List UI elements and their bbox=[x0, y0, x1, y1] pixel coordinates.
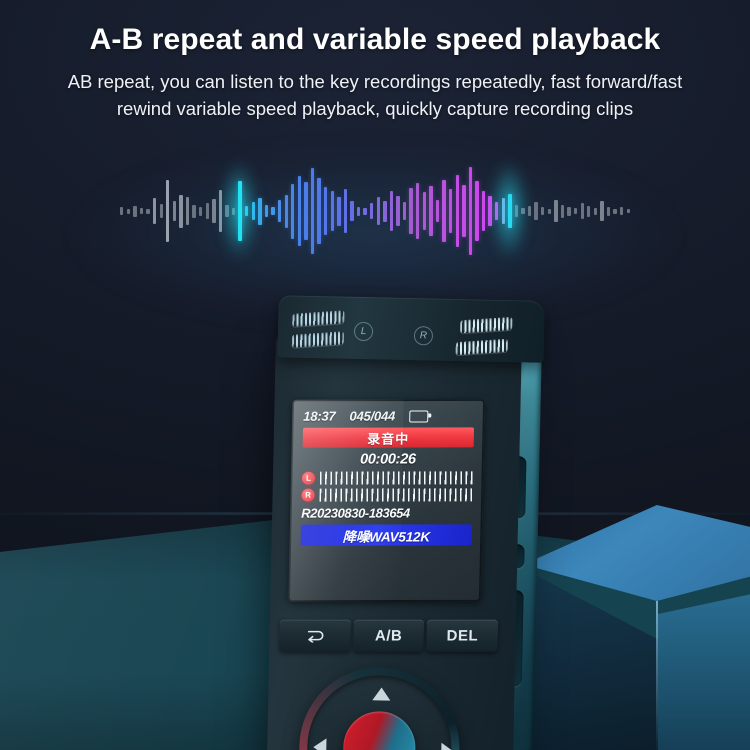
waveform-bar bbox=[541, 207, 544, 215]
waveform-bar bbox=[528, 206, 531, 216]
waveform-bar bbox=[436, 200, 439, 222]
waveform-bar bbox=[442, 180, 445, 242]
channel-badge-left: L bbox=[302, 472, 315, 485]
waveform-bars bbox=[120, 168, 630, 254]
waveform-bar bbox=[627, 209, 630, 213]
waveform-bar bbox=[265, 205, 268, 217]
waveform-bar bbox=[456, 175, 459, 247]
triangle-right-icon[interactable] bbox=[441, 743, 454, 750]
mic-label-right: R bbox=[414, 326, 433, 345]
product-feature-banner: A-B repeat and variable speed playback A… bbox=[0, 0, 750, 750]
mic-label-left: L bbox=[354, 322, 373, 341]
waveform-bar bbox=[554, 200, 557, 222]
waveform-bar bbox=[561, 205, 564, 218]
page-title: A-B repeat and variable speed playback bbox=[44, 22, 706, 57]
waveform-bar bbox=[370, 203, 373, 219]
waveform-bar bbox=[357, 207, 360, 216]
waveform-bar bbox=[534, 202, 537, 220]
waveform-bar bbox=[350, 201, 353, 221]
device-display[interactable]: 18:37 045/044 录音中 00:00:26 L R R20230830… bbox=[288, 399, 484, 601]
waveform-bar bbox=[581, 203, 584, 219]
waveform-bar bbox=[225, 205, 228, 217]
waveform-bar bbox=[521, 208, 524, 214]
level-meter-left: L bbox=[302, 471, 473, 484]
waveform-bar bbox=[337, 197, 340, 226]
waveform-bar bbox=[469, 167, 472, 255]
waveform-bar bbox=[363, 208, 366, 215]
waveform-bar bbox=[212, 199, 215, 223]
waveform-bar bbox=[462, 185, 465, 237]
waveform-bar bbox=[508, 194, 511, 228]
waveform-bar bbox=[613, 209, 616, 214]
waveform-bar bbox=[304, 182, 307, 240]
waveform-bar bbox=[232, 208, 235, 215]
waveform-bar bbox=[291, 184, 294, 239]
waveform-bar bbox=[495, 202, 498, 220]
waveform-bar bbox=[587, 206, 590, 217]
audio-format-badge: 降噪WAV512K bbox=[301, 524, 472, 545]
waveform-bar bbox=[258, 198, 261, 225]
waveform-bar bbox=[344, 189, 347, 233]
waveform-bar bbox=[278, 200, 281, 222]
cube-right-face bbox=[658, 583, 750, 750]
waveform-bar bbox=[140, 208, 143, 214]
triangle-left-icon[interactable] bbox=[313, 738, 326, 750]
mic-grille-right-lower bbox=[456, 339, 508, 355]
track-counter: 045/044 bbox=[349, 409, 395, 424]
waveform-bar bbox=[186, 197, 189, 225]
waveform-bar bbox=[429, 186, 432, 236]
waveform-bar bbox=[271, 207, 274, 215]
waveform-bar bbox=[594, 208, 597, 215]
waveform-bar bbox=[252, 202, 255, 220]
recording-filename: R20230830-183654 bbox=[301, 505, 472, 520]
triangle-up-icon[interactable] bbox=[372, 687, 390, 700]
mic-grille-left-upper bbox=[292, 310, 344, 326]
waveform-bar bbox=[377, 197, 380, 225]
waveform-bar bbox=[311, 168, 314, 254]
voice-recorder-device: L R 18:37 045/044 录音中 00:00:26 L R bbox=[253, 287, 563, 750]
waveform-bar bbox=[488, 196, 491, 226]
waveform-bar bbox=[423, 192, 426, 230]
delete-button[interactable]: DEL bbox=[427, 620, 498, 652]
waveform-bar bbox=[409, 188, 412, 234]
waveform-bar bbox=[285, 195, 288, 228]
waveform-bar bbox=[403, 202, 406, 220]
waveform-bar bbox=[449, 189, 452, 233]
waveform-bar bbox=[245, 206, 248, 216]
waveform-bar bbox=[475, 181, 478, 241]
waveform-bar bbox=[179, 195, 182, 228]
battery-icon bbox=[409, 410, 428, 422]
waveform-bar bbox=[153, 198, 156, 224]
waveform-bar bbox=[192, 205, 195, 218]
waveform-bar bbox=[416, 183, 419, 239]
waveform-bar bbox=[120, 207, 123, 215]
back-button[interactable] bbox=[279, 620, 350, 652]
page-subtitle: AB repeat, you can listen to the key rec… bbox=[44, 69, 706, 122]
channel-badge-right: R bbox=[301, 489, 314, 502]
waveform-bar bbox=[206, 203, 209, 219]
waveform-bar bbox=[173, 201, 176, 221]
waveform-bar bbox=[567, 207, 570, 216]
waveform-bar bbox=[219, 190, 222, 232]
level-bars-right bbox=[319, 488, 472, 501]
return-arrow-icon bbox=[305, 629, 325, 643]
waveform-bar bbox=[383, 201, 386, 222]
audio-waveform-graphic bbox=[0, 168, 750, 254]
waveform-bar bbox=[324, 187, 327, 235]
waveform-bar bbox=[146, 209, 149, 214]
ab-button[interactable]: A/B bbox=[353, 620, 424, 652]
control-button-row: A/B DEL bbox=[279, 620, 498, 652]
recording-timer: 00:00:26 bbox=[302, 451, 473, 467]
device-mic-deck: L R bbox=[277, 295, 544, 363]
waveform-bar bbox=[160, 204, 163, 218]
waveform-bar bbox=[607, 207, 610, 216]
clock-time: 18:37 bbox=[303, 409, 336, 424]
waveform-bar bbox=[548, 209, 551, 214]
waveform-bar bbox=[298, 176, 301, 246]
waveform-bar bbox=[199, 207, 202, 216]
waveform-bar bbox=[238, 181, 241, 241]
status-bar: 18:37 045/044 bbox=[303, 408, 474, 423]
waveform-bar bbox=[133, 206, 136, 217]
waveform-bar bbox=[620, 207, 623, 215]
waveform-bar bbox=[502, 198, 505, 224]
level-bars-left bbox=[320, 471, 473, 484]
waveform-bar bbox=[127, 209, 130, 214]
waveform-bar bbox=[515, 205, 518, 217]
waveform-bar bbox=[390, 191, 393, 231]
mic-grille-right-upper bbox=[460, 317, 512, 333]
headline-block: A-B repeat and variable speed playback A… bbox=[0, 22, 750, 122]
waveform-bar bbox=[331, 191, 334, 231]
waveform-bar bbox=[166, 180, 169, 242]
waveform-bar bbox=[317, 178, 320, 244]
waveform-bar bbox=[600, 201, 603, 221]
mic-grille-left-lower bbox=[292, 331, 344, 347]
cube-edge-seam bbox=[656, 601, 658, 750]
level-meter-right: R bbox=[301, 488, 472, 501]
waveform-bar bbox=[482, 191, 485, 231]
waveform-bar bbox=[396, 196, 399, 226]
waveform-bar bbox=[574, 208, 577, 214]
recording-status-badge: 录音中 bbox=[303, 427, 474, 447]
